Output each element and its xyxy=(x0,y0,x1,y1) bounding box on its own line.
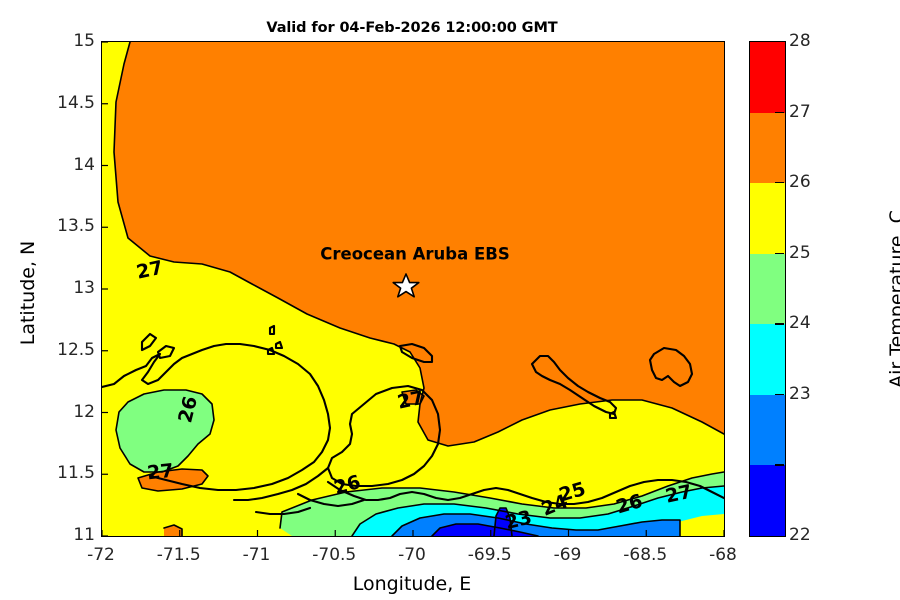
y-tick-label: 14 xyxy=(25,155,95,175)
y-tick-label: 12 xyxy=(25,402,95,422)
colorbar-tick-label: 25 xyxy=(789,243,811,263)
x-tick-label: -69 xyxy=(523,545,613,565)
colorbar-band-26-27 xyxy=(750,113,785,184)
colorbar-tick-labels: 28 27 26 25 24 23 22 xyxy=(789,0,829,600)
colorbar-tick-mark xyxy=(775,464,784,465)
x-tick-label: -71 xyxy=(212,545,302,565)
colorbar-tick-mark xyxy=(775,112,784,113)
x-tick-label: -68.5 xyxy=(600,545,690,565)
colorbar-band-27-28 xyxy=(750,42,785,113)
x-tick-label: -68 xyxy=(678,545,768,565)
contour-label: 27 xyxy=(146,460,175,485)
x-tick-label: -69.5 xyxy=(445,545,535,565)
colorbar-tick-mark xyxy=(775,394,784,395)
colorbar-tick-label: 27 xyxy=(789,102,811,122)
contour-map-axes[interactable]: 27 26 27 27 26 23 24 25 26 27 xyxy=(101,41,725,537)
y-axis-title: Latitude, N xyxy=(17,193,39,393)
colorbar-tick-mark xyxy=(775,323,784,324)
colorbar-band-23-24 xyxy=(750,324,785,395)
page-title: Valid for 04-Feb-2026 12:00:00 GMT xyxy=(101,20,723,36)
colorbar[interactable] xyxy=(749,41,786,537)
y-tick-label: 15 xyxy=(25,31,95,51)
colorbar-tick-label: 22 xyxy=(789,525,811,545)
contour-map-svg: 27 26 27 27 26 23 24 25 26 27 xyxy=(102,42,724,536)
x-tick-label: -72 xyxy=(56,545,146,565)
y-tick-label: 11 xyxy=(25,525,95,545)
colorbar-tick-label: 23 xyxy=(789,384,811,404)
colorbar-tick-label: 26 xyxy=(789,172,811,192)
figure-canvas: Valid for 04-Feb-2026 12:00:00 GMT xyxy=(0,0,900,600)
station-label: Creocean Aruba EBS xyxy=(320,245,509,264)
y-tick-label: 14.5 xyxy=(25,93,95,113)
colorbar-tick-label: 28 xyxy=(789,31,811,51)
colorbar-tick-mark xyxy=(775,253,784,254)
x-axis-tick-labels: -72 -71.5 -71 -70.5 -70 -69.5 -69 -68.5 … xyxy=(0,545,900,571)
x-tick-label: -70 xyxy=(367,545,457,565)
y-tick-label: 11.5 xyxy=(25,463,95,483)
colorbar-band-25-26 xyxy=(750,183,785,254)
colorbar-tick-label: 24 xyxy=(789,313,811,333)
colorbar-tick-mark xyxy=(775,182,784,183)
x-tick-label: -70.5 xyxy=(289,545,379,565)
x-tick-label: -71.5 xyxy=(134,545,224,565)
colorbar-band-24-25 xyxy=(750,254,785,325)
colorbar-title: Air Temperature, C xyxy=(886,139,900,459)
colorbar-band-22-23 xyxy=(750,395,785,466)
x-axis-title: Longitude, E xyxy=(101,573,723,595)
colorbar-band-below-22 xyxy=(750,465,785,536)
